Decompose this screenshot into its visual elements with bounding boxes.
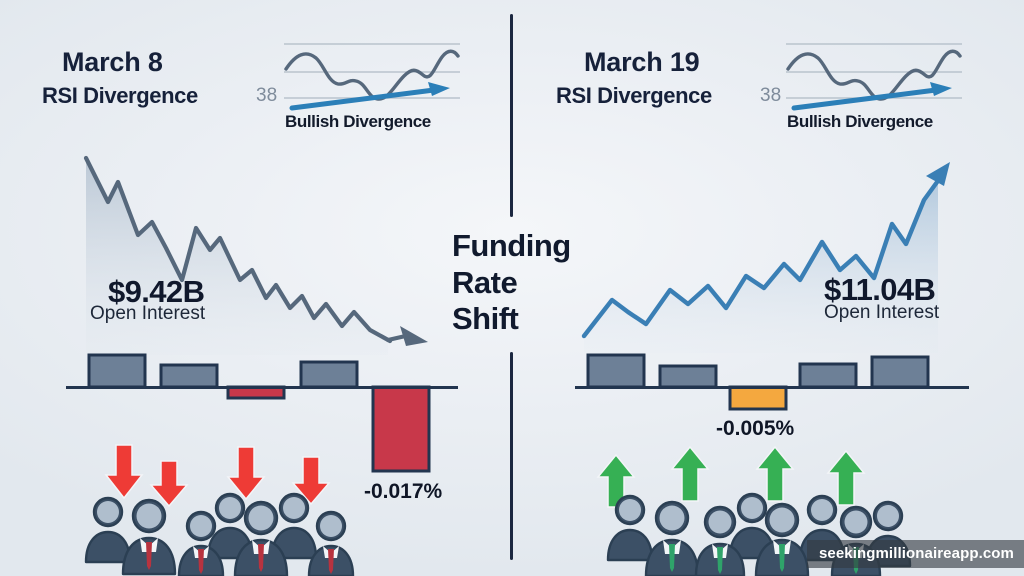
infographic-canvas: March 8 RSI Divergence 38 Bullish Diverg… — [0, 0, 1024, 576]
panel-right-rsi-value: 38 — [760, 85, 781, 107]
watermark: seekingmillionaireapp.com — [807, 540, 1024, 568]
panel-right-metric-label: Open Interest — [824, 302, 939, 324]
panel-left-subtitle: RSI Divergence — [42, 83, 198, 109]
panel-right-funding-pct: -0.005% — [716, 417, 794, 441]
panel-left: March 8 RSI Divergence 38 Bullish Diverg… — [0, 0, 510, 576]
panel-left-rsi-value: 38 — [256, 85, 277, 107]
panel-right-divergence-label: Bullish Divergence — [787, 112, 933, 132]
trend-arrow-down-left — [388, 326, 428, 346]
panel-left-funding-pct: -0.017% — [364, 480, 442, 504]
trend-arrow-up-right — [926, 162, 950, 186]
crowd-left — [82, 486, 372, 576]
panel-left-date: March 8 — [62, 47, 163, 78]
panel-right-subtitle: RSI Divergence — [556, 83, 712, 109]
rsi-mini-chart-left — [282, 38, 462, 110]
panel-right-date: March 19 — [584, 47, 699, 78]
panel-right: March 19 RSI Divergence 38 Bullish Diver… — [512, 0, 1024, 576]
rsi-mini-chart-right — [784, 38, 964, 110]
panel-left-divergence-label: Bullish Divergence — [285, 112, 431, 132]
funding-bars-right — [572, 348, 972, 428]
panel-left-metric-label: Open Interest — [90, 303, 205, 325]
